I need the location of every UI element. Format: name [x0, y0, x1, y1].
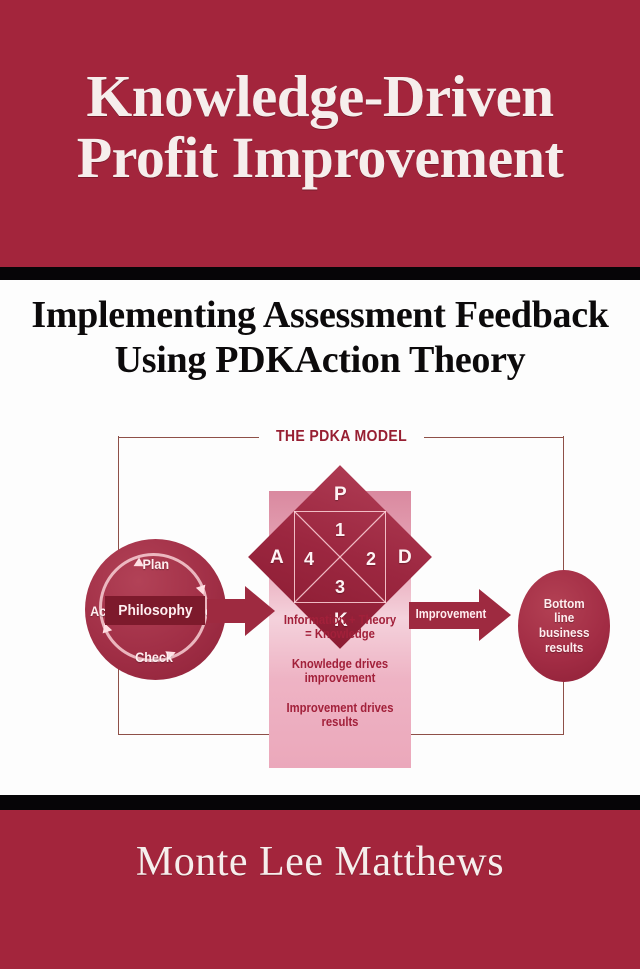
- diamond-quadrant-4: 4: [304, 549, 314, 570]
- pdca-cycle: Plan Do Check Act Philosophy: [85, 539, 226, 680]
- diamond-quadrant-3: 3: [335, 577, 345, 598]
- diamond-quadrant-2: 2: [366, 549, 376, 570]
- diamond-letter-p: P: [334, 484, 347, 506]
- improvement-arrow-label: Improvement: [416, 607, 481, 621]
- book-title: Knowledge-Driven Profit Improvement: [0, 68, 640, 187]
- cycle-label-plan: Plan: [142, 556, 169, 572]
- header-rule-right: [424, 437, 565, 438]
- book-subtitle: Implementing Assessment Feedback Using P…: [0, 296, 640, 379]
- diagram-header-label: THE PDKA MODEL: [268, 428, 413, 446]
- title-line-2: Profit Improvement: [0, 130, 640, 187]
- subtitle-line-1: Implementing Assessment Feedback: [0, 296, 640, 334]
- statement-3: Improvement drives results: [276, 702, 404, 729]
- book-cover: Knowledge-Driven Profit Improvement Impl…: [0, 0, 640, 969]
- diagram-header: THE PDKA MODEL: [118, 427, 564, 447]
- author-name: Monte Lee Matthews: [0, 838, 640, 886]
- statement-1: Information + Theory = Knowledge: [276, 614, 404, 641]
- diamond-letter-a: A: [270, 547, 284, 569]
- statement-2: Knowledge drives improvement: [276, 658, 404, 685]
- philosophy-label: Philosophy: [118, 602, 192, 619]
- bottom-line-results-ellipse: Bottom line business results: [518, 570, 610, 682]
- pdka-model-diagram: THE PDKA MODEL Plan Do Check Act Philoso…: [0, 418, 640, 788]
- philosophy-box: Philosophy: [105, 596, 205, 625]
- bottom-line-results-label: Bottom line business results: [539, 597, 590, 655]
- diamond-quadrant-1: 1: [335, 520, 345, 541]
- subtitle-line-2: Using PDKAction Theory: [0, 341, 640, 379]
- diamond-letter-d: D: [398, 547, 412, 569]
- cycle-label-check: Check: [135, 649, 173, 665]
- knowledge-statements: Information + Theory = Knowledge Knowled…: [269, 614, 411, 746]
- top-black-rule: [0, 267, 640, 280]
- header-rule-left: [118, 437, 259, 438]
- arrow-shaft: [207, 599, 247, 623]
- title-line-1: Knowledge-Driven: [0, 68, 640, 126]
- improvement-arrow-icon: Improvement: [409, 589, 515, 641]
- bottom-color-band: [0, 810, 640, 969]
- bottom-black-rule: [0, 795, 640, 810]
